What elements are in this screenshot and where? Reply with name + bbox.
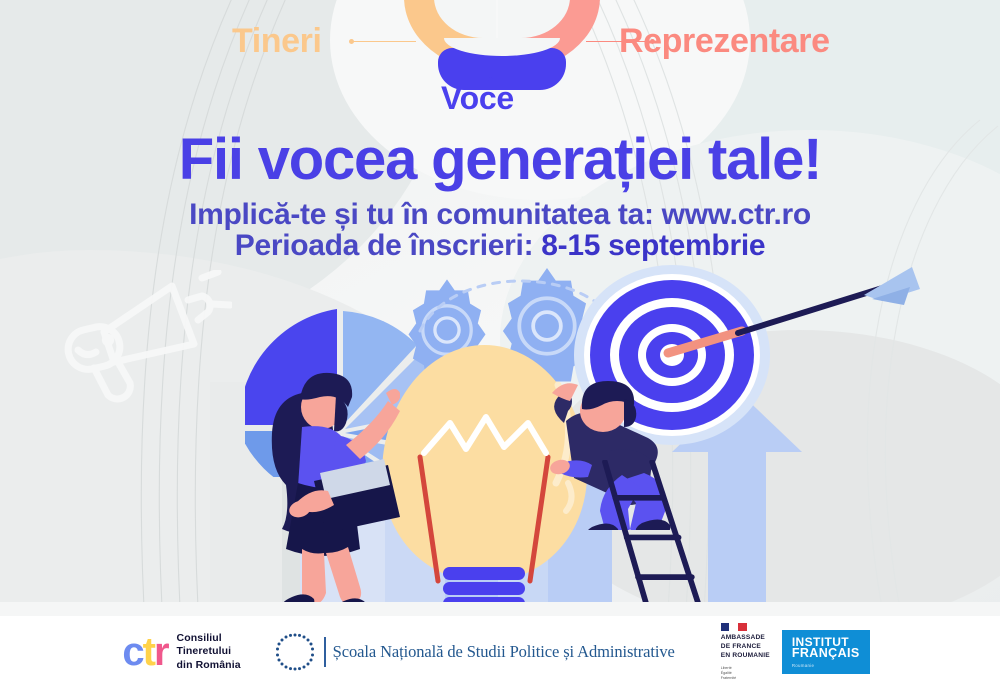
ctr-letter-r: r bbox=[154, 632, 168, 672]
institut-country: Roumanie bbox=[792, 663, 860, 668]
ambassade-line-2: DE FRANCE bbox=[721, 643, 770, 652]
snspa-name: Școala Națională de Studii Politice și A… bbox=[333, 642, 675, 662]
ambassade-line-1: AMBASSADE bbox=[721, 634, 770, 643]
label-tineri: Tineri bbox=[232, 22, 322, 61]
ctr-letter-t: t bbox=[143, 632, 154, 672]
eu-stars-icon bbox=[273, 632, 317, 672]
ctr-full-name: Consiliul Tineretului din România bbox=[177, 632, 241, 672]
ambassade-motto: Liberté Égalité Fraternité bbox=[721, 666, 770, 681]
illustration bbox=[0, 245, 1000, 620]
flag-stripe-white bbox=[729, 623, 738, 631]
leader-line-tineri bbox=[352, 41, 416, 42]
flag-stripe-red bbox=[738, 623, 747, 631]
logo-ambassade-de-france: AMBASSADE DE FRANCE EN ROUMANIE Liberté … bbox=[721, 623, 770, 680]
subtitle-community: Implică-te și tu în comunitatea ta: www.… bbox=[0, 198, 1000, 232]
ctr-letter-c: c bbox=[122, 632, 142, 672]
bulb-ring bbox=[443, 567, 525, 580]
page-title: Fii vocea generației tale! bbox=[0, 130, 1000, 191]
flag-stripe-blue bbox=[721, 623, 730, 631]
donut-diagram bbox=[404, 0, 600, 72]
ambassade-name: AMBASSADE DE FRANCE EN ROUMANIE bbox=[721, 634, 770, 660]
label-voce: Voce bbox=[441, 80, 514, 117]
logo-ctr: ctr Consiliul Tineretului din România bbox=[122, 632, 240, 672]
bulb-ring bbox=[443, 582, 525, 595]
ambassade-line-3: EN ROUMANIE bbox=[721, 652, 770, 661]
logo-institut-francais: INSTITUT FRANÇAIS Roumanie bbox=[782, 630, 870, 674]
ctr-name-line-1: Consiliul bbox=[177, 632, 241, 645]
logo-french-partners: AMBASSADE DE FRANCE EN ROUMANIE Liberté … bbox=[721, 623, 870, 680]
institut-line-2: FRANÇAIS bbox=[792, 648, 860, 660]
ctr-name-line-3: din România bbox=[177, 659, 241, 672]
poster-root: Tineri Reprezentare Voce Fii vocea gener… bbox=[0, 0, 1000, 688]
snspa-divider bbox=[324, 637, 326, 667]
leader-line-voce bbox=[490, 58, 491, 80]
logo-snspa: Școala Națională de Studii Politice și A… bbox=[273, 632, 675, 672]
ctr-name-line-2: Tineretului bbox=[177, 645, 241, 658]
woman-with-clipboard bbox=[250, 363, 400, 618]
motto-fraternite: Fraternité bbox=[721, 676, 770, 681]
french-flag-icon bbox=[721, 623, 747, 631]
ctr-wordmark: ctr bbox=[122, 632, 167, 672]
footer-logos: ctr Consiliul Tineretului din România bbox=[0, 616, 1000, 688]
label-reprezentare: Reprezentare bbox=[619, 22, 830, 61]
